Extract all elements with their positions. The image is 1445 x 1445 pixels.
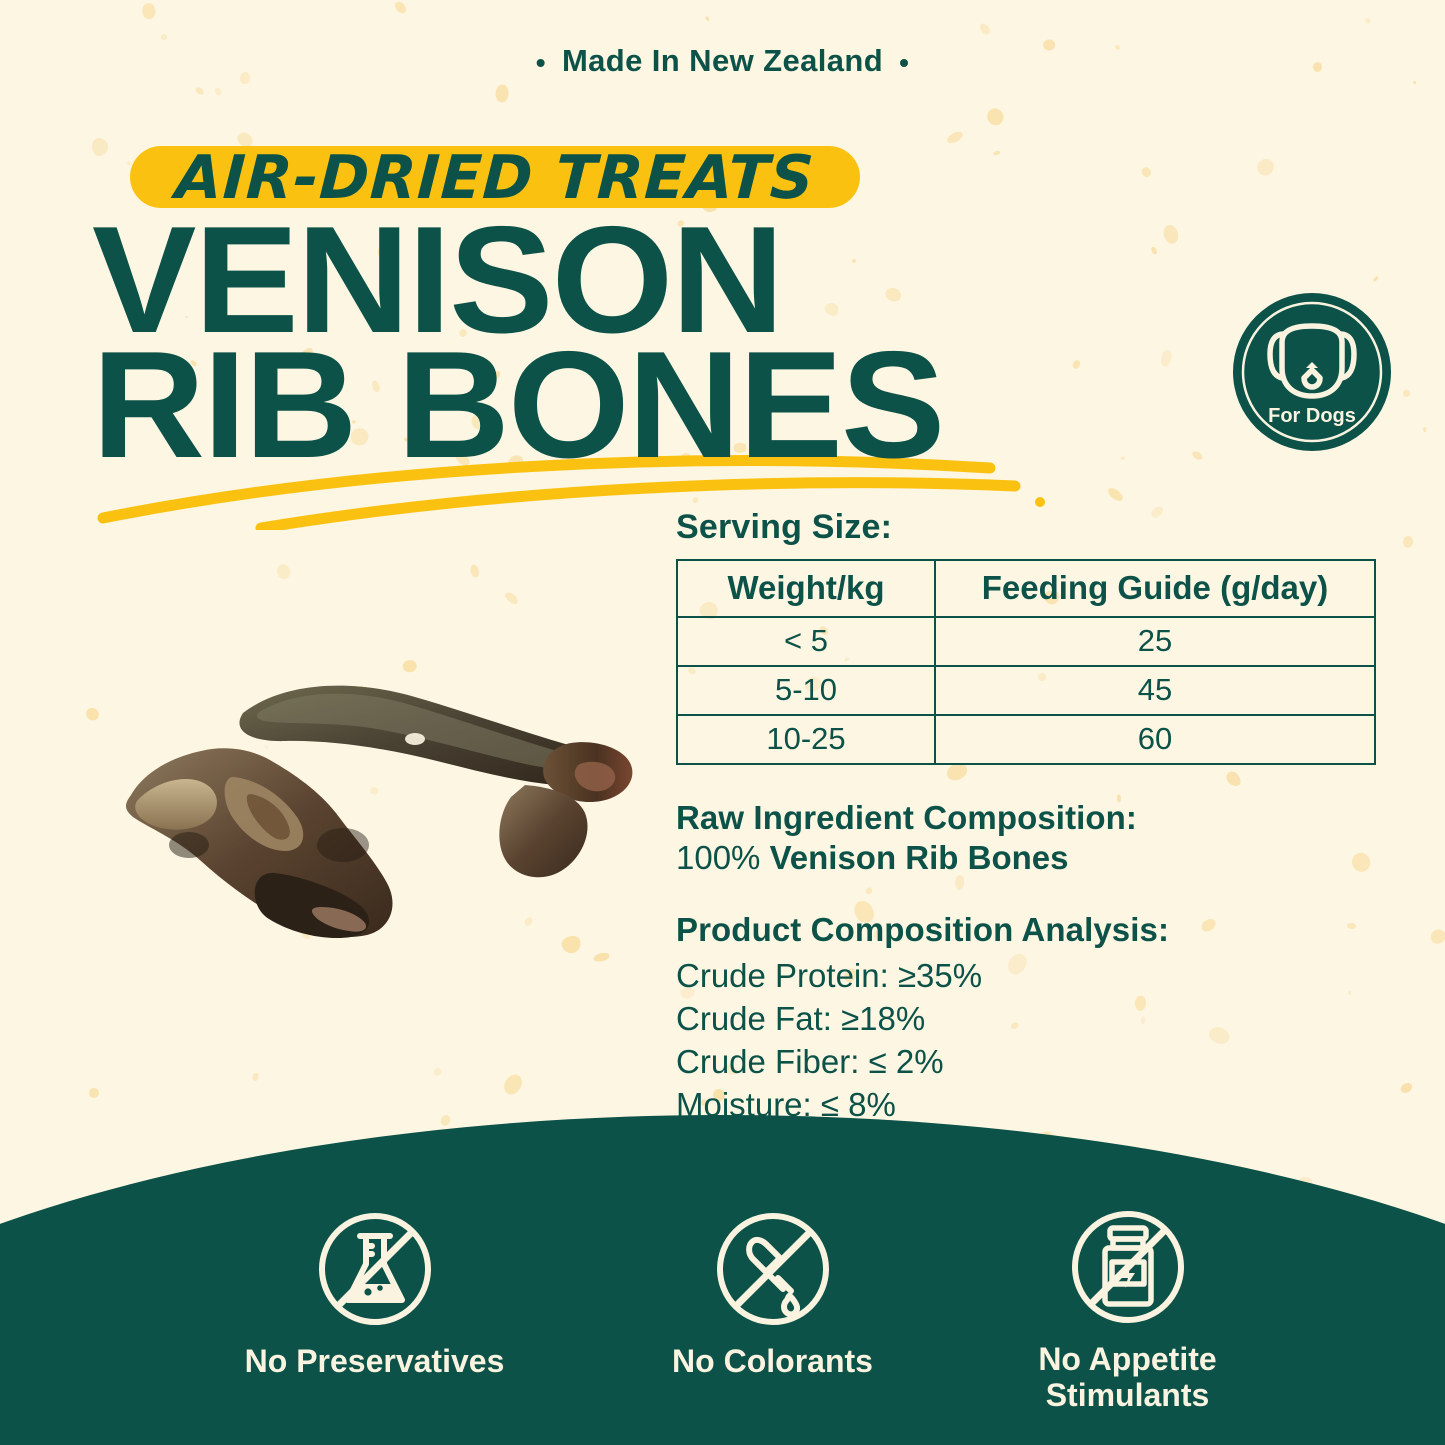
analysis-item-protein: Crude Protein: ≥35% — [676, 955, 1376, 998]
cell-weight: 5-10 — [677, 666, 935, 715]
feature-no-preservatives: No Preservatives — [202, 1208, 547, 1380]
feature-label-line2: Stimulants — [1046, 1377, 1210, 1413]
cell-feeding: 60 — [935, 715, 1375, 764]
ingredient-name: Venison Rib Bones — [770, 839, 1069, 876]
origin-banner: •Made In New Zealand• — [0, 43, 1445, 79]
table-row: < 5 25 — [677, 617, 1375, 666]
column-header-weight: Weight/kg — [677, 560, 935, 617]
no-supplement-jar-icon — [1067, 1206, 1189, 1328]
page-title: VENISON RIB BONES — [92, 218, 943, 467]
title-line-2: RIB BONES — [92, 343, 943, 468]
origin-text: Made In New Zealand — [562, 43, 883, 78]
feature-no-appetite-stimulants: No Appetite Stimulants — [955, 1206, 1300, 1414]
feature-label: No Preservatives — [245, 1343, 505, 1379]
eyebrow-badge-text: Air-Dried Treats — [128, 130, 863, 225]
cell-weight: < 5 — [677, 617, 935, 666]
raw-ingredient-value: 100% Venison Rib Bones — [676, 839, 1376, 877]
nutrition-panel: Serving Size: Weight/kg Feeding Guide (g… — [676, 508, 1376, 1127]
cell-feeding: 45 — [935, 666, 1375, 715]
analysis-item-fat: Crude Fat: ≥18% — [676, 998, 1376, 1041]
table-header-row: Weight/kg Feeding Guide (g/day) — [677, 560, 1375, 617]
raw-ingredient-heading: Raw Ingredient Composition: — [676, 799, 1376, 837]
for-dogs-badge: For Dogs — [1232, 292, 1392, 452]
feeding-guide-table: Weight/kg Feeding Guide (g/day) < 5 25 5… — [676, 559, 1376, 765]
no-flask-icon — [314, 1208, 436, 1330]
product-photo — [85, 645, 645, 945]
serving-size-heading: Serving Size: — [676, 508, 1376, 547]
analysis-heading: Product Composition Analysis: — [676, 911, 1376, 949]
feature-no-colorants: No Colorants — [620, 1208, 925, 1380]
column-header-feeding: Feeding Guide (g/day) — [935, 560, 1375, 617]
bullet-right-icon: • — [883, 47, 925, 78]
product-label-canvas: •Made In New Zealand• Air-Dried Treats V… — [0, 0, 1445, 1445]
cell-feeding: 25 — [935, 617, 1375, 666]
ingredient-percent: 100% — [676, 839, 760, 876]
analysis-item-fiber: Crude Fiber: ≤ 2% — [676, 1041, 1376, 1084]
table-row: 10-25 60 — [677, 715, 1375, 764]
analysis-list: Crude Protein: ≥35% Crude Fat: ≥18% Crud… — [676, 955, 1376, 1127]
for-dogs-label: For Dogs — [1268, 405, 1356, 427]
feature-label-line1: No Appetite — [1038, 1341, 1216, 1377]
feature-label: No Colorants — [672, 1343, 873, 1379]
no-dropper-icon — [712, 1208, 834, 1330]
bullet-left-icon: • — [520, 47, 562, 78]
table-row: 5-10 45 — [677, 666, 1375, 715]
cell-weight: 10-25 — [677, 715, 935, 764]
